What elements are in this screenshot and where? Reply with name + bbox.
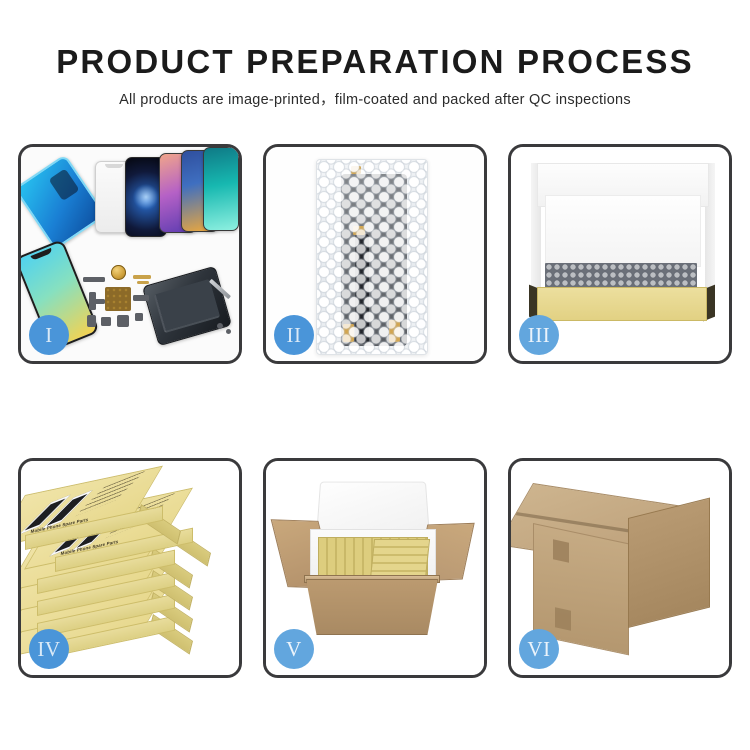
- phone-opened-chassis: [142, 266, 232, 347]
- part-vibrator-coin: [111, 265, 126, 280]
- page-subtitle: All products are image-printed，film-coat…: [0, 90, 750, 110]
- bubble-wrap-package: [316, 159, 428, 355]
- bubble-wrap-texture: [317, 160, 427, 354]
- part-logic-board: [105, 287, 131, 311]
- inner-box-foam-sheet: [545, 195, 701, 267]
- step-badge-4: IV: [29, 629, 69, 669]
- step-3-image: III: [511, 147, 729, 361]
- part-flex-gold-b: [137, 281, 149, 284]
- product-preparation-infographic: PRODUCT PREPARATION PROCESS All products…: [0, 0, 750, 750]
- step-badge-1: I: [29, 315, 69, 355]
- process-step-panel-4[interactable]: Mobile Phone Spare Parts Mobile Phone Sp…: [18, 458, 242, 678]
- phone-display-teal: [203, 147, 239, 231]
- process-step-panel-2[interactable]: II: [263, 144, 487, 364]
- part-sim-tray: [87, 315, 96, 327]
- carton-body: [306, 579, 438, 635]
- part-flex-gold-a: [133, 275, 151, 279]
- step-badge-2: II: [274, 315, 314, 355]
- step-4-image: Mobile Phone Spare Parts Mobile Phone Sp…: [21, 461, 239, 675]
- step-badge-3: III: [519, 315, 559, 355]
- step-1-image: I: [21, 147, 239, 361]
- inner-box-bubble-contents: [545, 263, 697, 289]
- part-camera-module: [101, 317, 111, 326]
- part-screw-b: [226, 329, 231, 334]
- carton-tape-upper: [553, 539, 569, 562]
- process-step-panel-3[interactable]: III: [508, 144, 732, 364]
- phone-back-cover-blue: [21, 154, 106, 250]
- page-title: PRODUCT PREPARATION PROCESS: [0, 42, 750, 82]
- sealed-carton-side: [628, 498, 710, 628]
- inner-box-front-panel: [537, 287, 707, 321]
- process-step-panel-5[interactable]: V: [263, 458, 487, 678]
- part-speaker-bar: [83, 277, 105, 282]
- part-antenna-flex: [133, 295, 149, 301]
- step-5-image: V: [266, 461, 484, 675]
- process-step-panel-6[interactable]: VI: [508, 458, 732, 678]
- step-6-image: VI: [511, 461, 729, 675]
- part-bracket-b: [93, 299, 105, 304]
- step-badge-5: V: [274, 629, 314, 669]
- process-step-panel-1[interactable]: I: [18, 144, 242, 364]
- header: PRODUCT PREPARATION PROCESS All products…: [0, 0, 750, 110]
- part-taptic-engine: [117, 315, 129, 327]
- step-badge-6: VI: [519, 629, 559, 669]
- step-2-image: II: [266, 147, 484, 361]
- part-screw-a: [217, 323, 223, 329]
- packed-inner-boxes-secondary: [370, 539, 430, 579]
- carton-tape-lower: [555, 607, 571, 630]
- process-step-grid: I II: [18, 144, 732, 675]
- part-screw-plate: [135, 313, 143, 321]
